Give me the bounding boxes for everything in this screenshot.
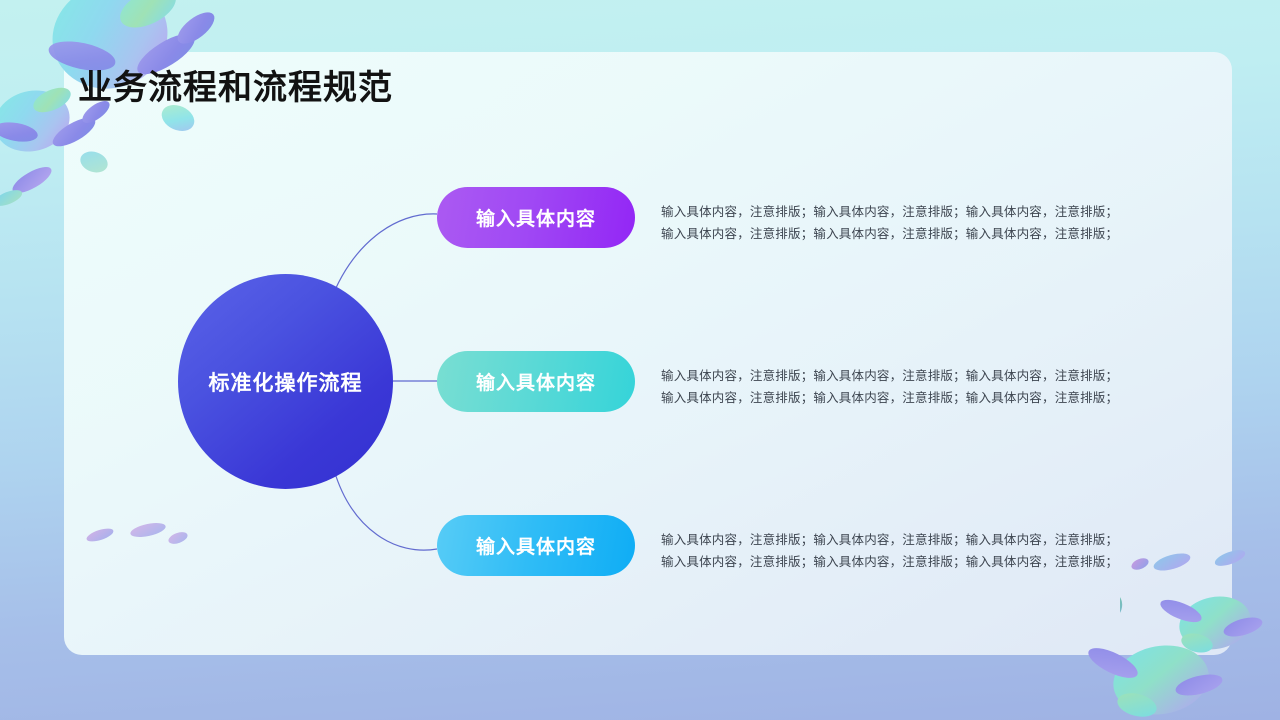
- branch-description-2-line-2: 输入具体内容，注意排版；输入具体内容，注意排版；输入具体内容，注意排版；: [661, 387, 1113, 409]
- hub-label: 标准化操作流程: [209, 367, 363, 397]
- branch-pill-3[interactable]: 输入具体内容: [437, 515, 635, 576]
- branch-description-3: 输入具体内容，注意排版；输入具体内容，注意排版；输入具体内容，注意排版； 输入具…: [661, 529, 1113, 573]
- branch-pill-3-label: 输入具体内容: [476, 532, 596, 559]
- branch-description-1-line-1: 输入具体内容，注意排版；输入具体内容，注意排版；输入具体内容，注意排版；: [661, 201, 1113, 223]
- branch-description-2: 输入具体内容，注意排版；输入具体内容，注意排版；输入具体内容，注意排版； 输入具…: [661, 365, 1113, 409]
- branch-pill-1-label: 输入具体内容: [476, 204, 596, 231]
- branch-pill-2[interactable]: 输入具体内容: [437, 351, 635, 412]
- branch-pill-2-label: 输入具体内容: [476, 368, 596, 395]
- connector-line-1: [330, 214, 437, 302]
- connector-line-3: [334, 470, 437, 550]
- branch-pill-1[interactable]: 输入具体内容: [437, 187, 635, 248]
- hub-node[interactable]: 标准化操作流程: [178, 274, 393, 489]
- branch-description-3-line-1: 输入具体内容，注意排版；输入具体内容，注意排版；输入具体内容，注意排版；: [661, 529, 1113, 551]
- page-title: 业务流程和流程规范: [78, 60, 393, 109]
- branch-description-2-line-1: 输入具体内容，注意排版；输入具体内容，注意排版；输入具体内容，注意排版；: [661, 365, 1113, 387]
- branch-description-1: 输入具体内容，注意排版；输入具体内容，注意排版；输入具体内容，注意排版； 输入具…: [661, 201, 1113, 245]
- branch-description-1-line-2: 输入具体内容，注意排版；输入具体内容，注意排版；输入具体内容，注意排版；: [661, 223, 1113, 245]
- branch-description-3-line-2: 输入具体内容，注意排版；输入具体内容，注意排版；输入具体内容，注意排版；: [661, 551, 1113, 573]
- slide-canvas: 业务流程和流程规范: [0, 0, 1280, 720]
